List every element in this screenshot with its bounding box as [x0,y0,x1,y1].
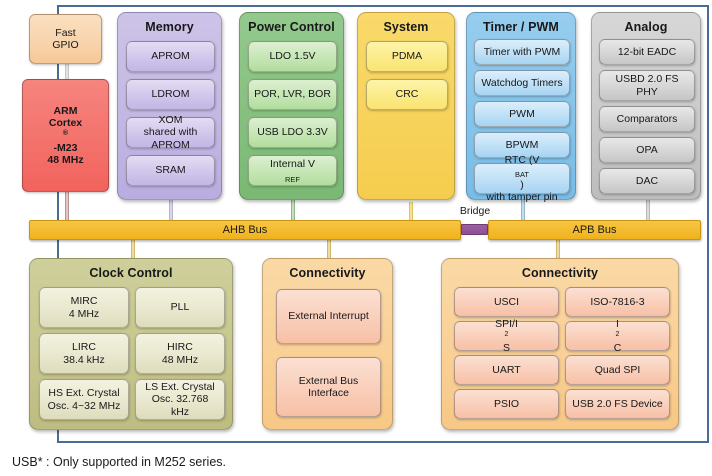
fast-gpio-line1: Fast [52,27,78,39]
block-external-bus-interface[interactable]: External Bus Interface [276,357,381,417]
group-title-system: System [358,20,454,34]
block-external-interrupt[interactable]: External Interrupt [276,289,381,344]
block-timer-with-pwm[interactable]: Timer with PWM [474,39,570,65]
label-ldo-1v5: LDO 1.5V [269,50,315,62]
label-ebi-line2: Interface [299,387,359,399]
block-usb-ldo-3v3[interactable]: USB LDO 3.3V [248,117,337,148]
group-title-connectivity-ahb: Connectivity [263,266,392,280]
block-hs-ext-crystal[interactable]: HS Ext. Crystal Osc. 4~32 MHz [39,379,129,420]
block-usbd-phy[interactable]: USBD 2.0 FS PHY [599,70,695,101]
label-usbd-line2: PHY [615,86,678,98]
connector-power-to-ahb [291,198,295,220]
group-connectivity-ahb[interactable]: Connectivity External Interrupt External… [262,258,393,430]
label-opa: OPA [636,144,657,156]
apb-bus-label: APB Bus [572,224,616,236]
block-mirc[interactable]: MIRC 4 MHz [39,287,129,328]
block-lirc[interactable]: LIRC 38.4 kHz [39,333,129,374]
block-crc[interactable]: CRC [366,79,448,110]
label-hirc-line2: 48 MHz [162,354,198,366]
label-ls-ext-line3: kHz [145,406,214,418]
block-uart[interactable]: UART [454,355,559,385]
label-pll: PLL [171,301,190,313]
label-ls-ext-line2: Osc. 32.768 [145,393,214,405]
block-i2c[interactable]: I2C [565,321,670,351]
group-title-memory: Memory [118,20,221,34]
cpu-line3: 48 MHz [47,154,83,166]
connector-gpio-to-cpu [65,62,69,80]
label-pdma: PDMA [392,50,422,62]
group-title-timer-pwm: Timer / PWM [467,20,575,34]
label-psio: PSIO [494,398,519,410]
label-internal-vref: Internal VREF [270,158,315,182]
block-ldrom[interactable]: LDROM [126,79,215,110]
label-ldrom: LDROM [152,88,190,100]
block-internal-vref[interactable]: Internal VREF [248,155,337,186]
group-system[interactable]: System PDMA CRC [357,12,455,200]
block-ldo-1v5[interactable]: LDO 1.5V [248,41,337,72]
registered-mark-icon: ® [63,130,68,137]
block-psio[interactable]: PSIO [454,389,559,419]
label-timer-with-pwm: Timer with PWM [484,46,561,58]
label-dac: DAC [636,175,658,187]
group-analog[interactable]: Analog 12-bit EADC USBD 2.0 FS PHY Compa… [591,12,701,200]
label-12bit-eadc: 12-bit EADC [618,46,676,58]
label-crc: CRC [396,88,419,100]
label-usbd-line1: USBD 2.0 FS [615,73,678,85]
label-hirc-line1: HIRC [162,341,198,353]
cpu-line2: Cortex®-M23 [47,117,83,153]
label-iso-7816-3: ISO-7816-3 [590,296,644,308]
label-mirc-line1: MIRC [69,295,99,307]
label-sram: SRAM [155,164,185,176]
block-usb-2-fs-device[interactable]: USB 2.0 FS Device [565,389,670,419]
label-comparators: Comparators [617,113,678,125]
block-comparators[interactable]: Comparators [599,106,695,132]
block-fast-gpio[interactable]: Fast GPIO [29,14,102,64]
group-memory[interactable]: Memory APROM LDROM XOM shared with APROM… [117,12,222,200]
block-opa[interactable]: OPA [599,137,695,163]
label-bpwm: BPWM [506,139,539,151]
label-rtc-line2: with tamper pin [486,191,557,203]
block-dac[interactable]: DAC [599,168,695,194]
label-xom-line2: shared with APROM [129,126,212,150]
label-usb-2-fs-device: USB 2.0 FS Device [572,398,662,410]
label-watchdog-timers: Watchdog Timers [481,77,562,89]
connector-ahb-to-connectivity [327,240,331,258]
label-lirc-line1: LIRC [63,341,104,353]
connector-cpu-to-ahb [65,190,69,220]
group-title-power-control: Power Control [240,20,343,34]
group-power-control[interactable]: Power Control LDO 1.5V POR, LVR, BOR USB… [239,12,344,200]
group-clock-control[interactable]: Clock Control MIRC 4 MHz PLL LIRC 38.4 k… [29,258,233,430]
label-xom-line1: XOM [129,114,212,126]
label-spi-i2s: SPI/I2S [495,318,518,354]
block-diagram-canvas: Fast GPIO ARM Cortex®-M23 48 MHz Memory … [0,0,712,476]
block-pdma[interactable]: PDMA [366,41,448,72]
label-por-lvr-bor: POR, LVR, BOR [254,88,331,100]
block-quad-spi[interactable]: Quad SPI [565,355,670,385]
footnote-usb: USB* : Only supported in M252 series. [12,455,226,469]
ahb-bus-label: AHB Bus [223,224,268,236]
i2s-superscript: 2 [505,331,509,338]
block-rtc-vbat[interactable]: RTC (VBAT) with tamper pin [474,163,570,194]
block-watchdog-timers[interactable]: Watchdog Timers [474,70,570,96]
block-pll[interactable]: PLL [135,287,225,328]
block-aprom[interactable]: APROM [126,41,215,72]
label-rtc-line1: RTC (VBAT) [486,154,557,190]
connector-apb-to-connectivity [556,240,560,258]
block-usci[interactable]: USCI [454,287,559,317]
label-ls-ext-line1: LS Ext. Crystal [145,381,214,393]
label-pwm: PWM [509,108,535,120]
cpu-line1: ARM [47,105,83,117]
group-title-clock-control: Clock Control [30,266,232,280]
group-title-analog: Analog [592,20,700,34]
block-ls-ext-crystal[interactable]: LS Ext. Crystal Osc. 32.768 kHz [135,379,225,420]
fast-gpio-line2: GPIO [52,39,78,51]
label-aprom: APROM [151,50,190,62]
block-sram[interactable]: SRAM [126,155,215,186]
label-i2c: I2C [614,318,622,354]
label-uart: UART [492,364,520,376]
label-hs-ext-line1: HS Ext. Crystal [48,387,121,399]
block-xom[interactable]: XOM shared with APROM [126,117,215,148]
connector-ahb-to-clock [131,240,135,258]
block-12bit-eadc[interactable]: 12-bit EADC [599,39,695,65]
connector-memory-to-ahb [169,198,173,220]
group-timer-pwm[interactable]: Timer / PWM Timer with PWM Watchdog Time… [466,12,576,200]
block-hirc[interactable]: HIRC 48 MHz [135,333,225,374]
label-hs-ext-line2: Osc. 4~32 MHz [48,400,121,412]
label-external-interrupt: External Interrupt [288,310,369,322]
bridge-label: Bridge [443,205,507,217]
group-connectivity-apb[interactable]: Connectivity USCI ISO-7816-3 SPI/I2S I2C… [441,258,679,430]
vbat-subscript: BAT [515,170,529,179]
block-arm-cortex-m23[interactable]: ARM Cortex®-M23 48 MHz [22,79,109,192]
label-quad-spi: Quad SPI [595,364,641,376]
apb-bus[interactable]: APB Bus [488,220,701,240]
i2c-superscript: 2 [616,331,620,338]
vref-subscript: REF [285,175,300,184]
block-spi-i2s[interactable]: SPI/I2S [454,321,559,351]
bus-bridge[interactable] [461,224,488,235]
label-usb-ldo-3v3: USB LDO 3.3V [257,126,328,138]
label-ebi-line1: External Bus [299,375,359,387]
block-iso-7816-3[interactable]: ISO-7816-3 [565,287,670,317]
label-mirc-line2: 4 MHz [69,308,99,320]
label-lirc-line2: 38.4 kHz [63,354,104,366]
ahb-bus[interactable]: AHB Bus [29,220,461,240]
group-title-connectivity-apb: Connectivity [442,266,678,280]
block-por-lvr-bor[interactable]: POR, LVR, BOR [248,79,337,110]
label-usci: USCI [494,296,519,308]
block-pwm[interactable]: PWM [474,101,570,127]
